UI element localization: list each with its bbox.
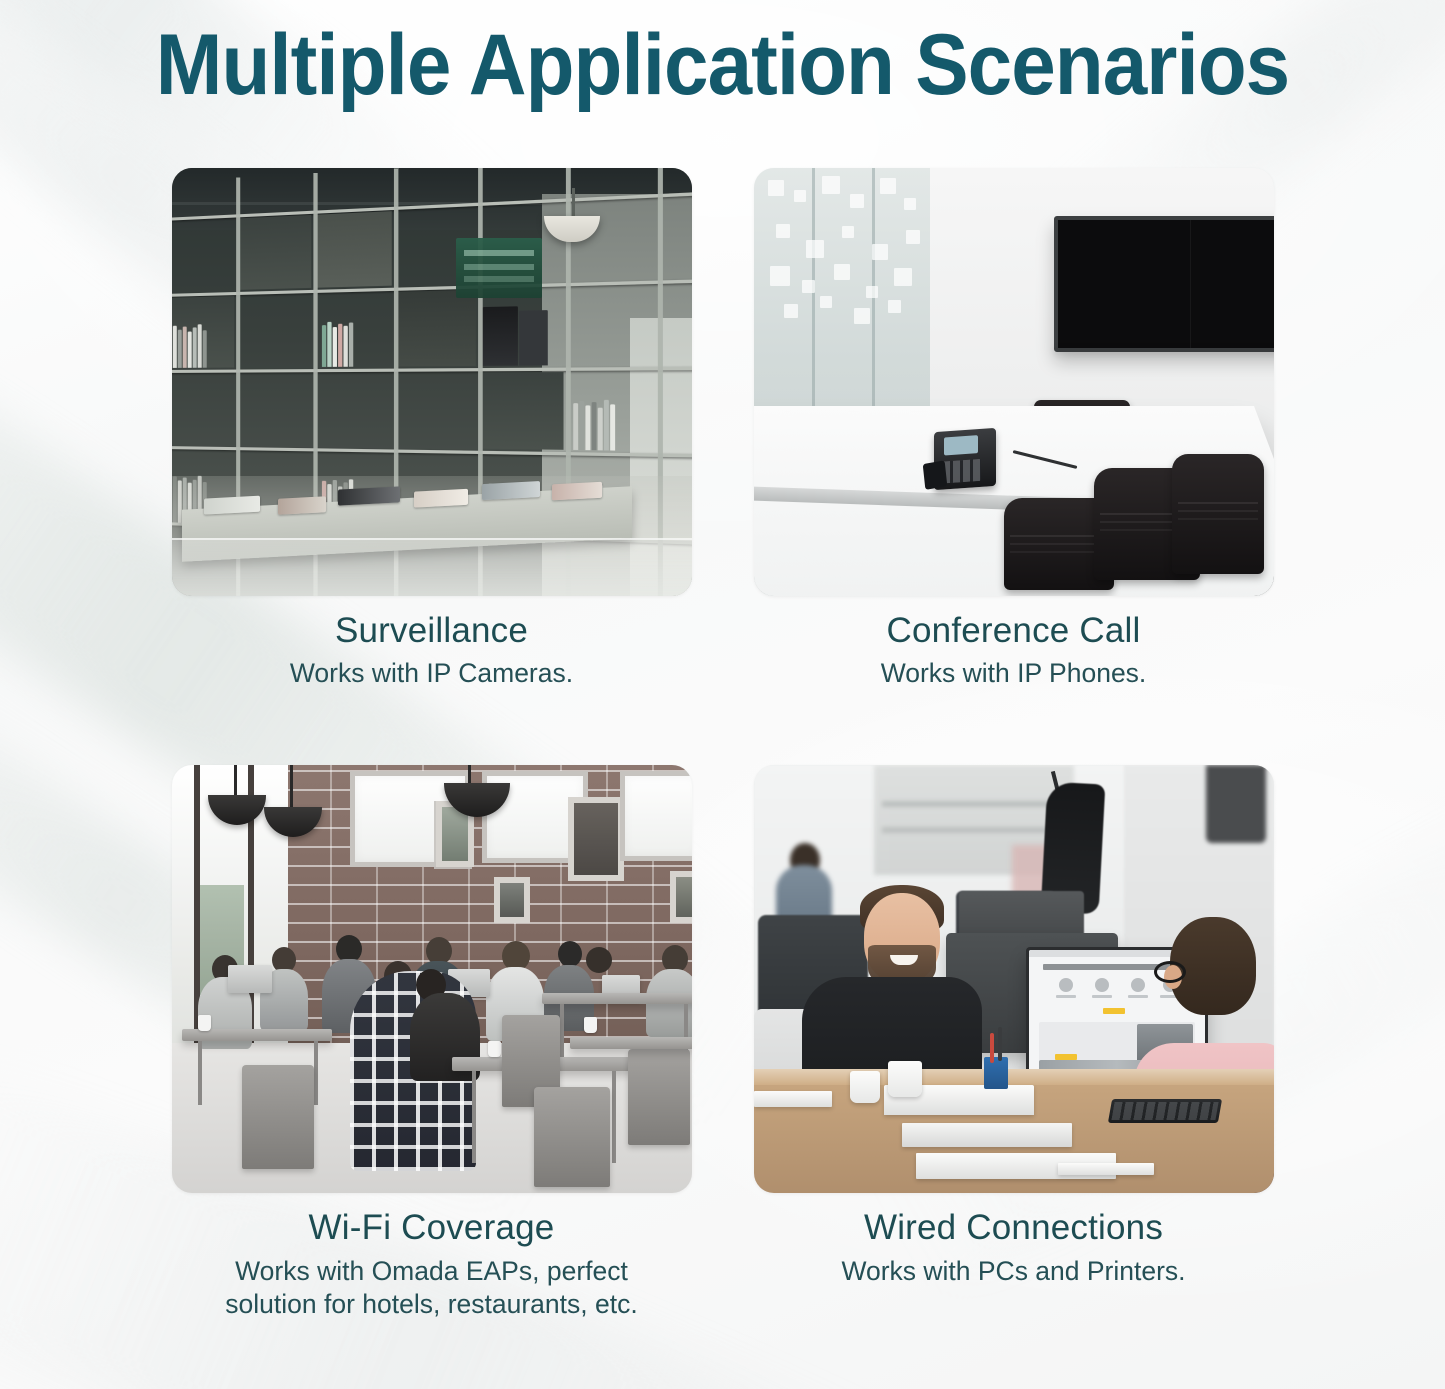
wired-connections-description: Works with PCs and Printers. bbox=[754, 1255, 1274, 1289]
eyeglasses bbox=[1154, 961, 1186, 983]
conference-call-description: Works with IP Phones. bbox=[754, 657, 1274, 691]
scenario-card-wired-connections[interactable]: Wired Connections Works with PCs and Pri… bbox=[754, 765, 1274, 1322]
conference-call-caption: Conference Call Works with IP Phones. bbox=[754, 596, 1274, 691]
pen-holder bbox=[984, 1057, 1008, 1089]
wall-mounted-tv bbox=[1054, 216, 1274, 352]
scenario-row-top: Surveillance Works with IP Cameras. bbox=[0, 168, 1445, 691]
scenario-card-surveillance[interactable]: Surveillance Works with IP Cameras. bbox=[172, 168, 692, 691]
wifi-coverage-title: Wi-Fi Coverage bbox=[172, 1207, 692, 1248]
surveillance-caption: Surveillance Works with IP Cameras. bbox=[172, 596, 692, 691]
keyboard bbox=[1107, 1099, 1221, 1123]
surveillance-title: Surveillance bbox=[172, 610, 692, 651]
shelf-sign bbox=[456, 238, 542, 298]
scenario-row-bottom: Wi-Fi Coverage Works with Omada EAPs, pe… bbox=[0, 765, 1445, 1322]
conference-call-title: Conference Call bbox=[754, 610, 1274, 651]
scenario-card-wifi-coverage[interactable]: Wi-Fi Coverage Works with Omada EAPs, pe… bbox=[172, 765, 692, 1322]
wifi-coverage-image bbox=[172, 765, 692, 1193]
wifi-coverage-description: Works with Omada EAPs, perfect solution … bbox=[193, 1255, 671, 1323]
scenario-card-conference-call[interactable]: Conference Call Works with IP Phones. bbox=[754, 168, 1274, 691]
wired-connections-caption: Wired Connections Works with PCs and Pri… bbox=[754, 1193, 1274, 1288]
conference-call-image bbox=[754, 168, 1274, 596]
scenario-grid: Surveillance Works with IP Cameras. bbox=[0, 168, 1445, 1322]
surveillance-description: Works with IP Cameras. bbox=[172, 657, 692, 691]
ip-desk-phone bbox=[934, 428, 996, 490]
application-scenarios-page: Multiple Application Scenarios bbox=[0, 0, 1445, 1389]
page-title: Multiple Application Scenarios bbox=[51, 16, 1395, 115]
wired-connections-title: Wired Connections bbox=[754, 1207, 1274, 1248]
wifi-coverage-caption: Wi-Fi Coverage Works with Omada EAPs, pe… bbox=[172, 1193, 692, 1322]
surveillance-image bbox=[172, 168, 692, 596]
wired-connections-image bbox=[754, 765, 1274, 1193]
